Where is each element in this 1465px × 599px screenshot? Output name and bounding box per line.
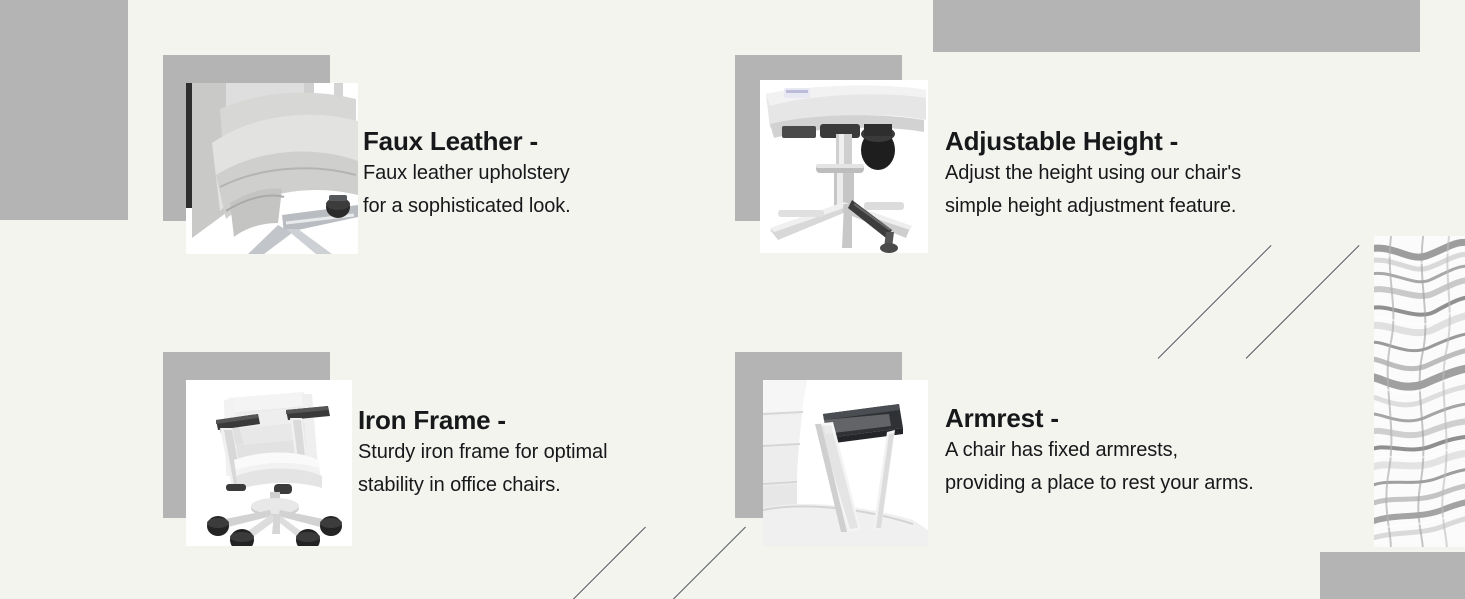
full-office-chair-icon [186,380,352,546]
product-image-iron-frame[interactable] [186,380,352,546]
feature-description-line: A chair has fixed armrests, [945,440,1254,460]
chair-armrest-closeup-icon [763,380,928,546]
feature-description-line: for a sophisticated look. [363,196,571,216]
diagonal-line-3 [572,527,646,599]
top-left-gray-block [0,0,128,220]
feature-text-faux-leather: Faux Leather - Faux leather upholstery f… [363,128,571,216]
chair-height-mechanism-icon [760,80,928,253]
feature-title: Armrest - [945,405,1254,431]
feature-description-line: providing a place to rest your arms. [945,473,1254,493]
top-right-gray-bar [933,0,1420,52]
marble-texture-svg [1374,236,1465,547]
diagonal-line-4 [672,527,746,599]
chair-seat-closeup-icon [186,83,358,254]
bottom-right-gray-bar [1320,552,1465,599]
feature-text-armrest: Armrest - A chair has fixed armrests, pr… [945,405,1254,493]
feature-highlights-canvas: Faux Leather - Faux leather upholstery f… [0,0,1465,599]
marble-texture-panel [1374,236,1465,547]
feature-title: Iron Frame - [358,407,607,433]
diagonal-line-1 [1158,245,1272,359]
feature-title: Adjustable Height - [945,128,1241,154]
feature-description-line: simple height adjustment feature. [945,196,1241,216]
product-image-armrest[interactable] [763,380,928,546]
feature-description-line: Sturdy iron frame for optimal [358,442,607,462]
feature-description-line: stability in office chairs. [358,475,607,495]
product-image-faux-leather[interactable] [186,83,358,254]
feature-text-adjustable-height: Adjustable Height - Adjust the height us… [945,128,1241,216]
product-image-adjustable-height[interactable] [760,80,928,253]
feature-description-line: Faux leather upholstery [363,163,571,183]
feature-title: Faux Leather - [363,128,571,154]
feature-description-line: Adjust the height using our chair's [945,163,1241,183]
diagonal-line-2 [1246,245,1360,359]
feature-text-iron-frame: Iron Frame - Sturdy iron frame for optim… [358,407,607,495]
